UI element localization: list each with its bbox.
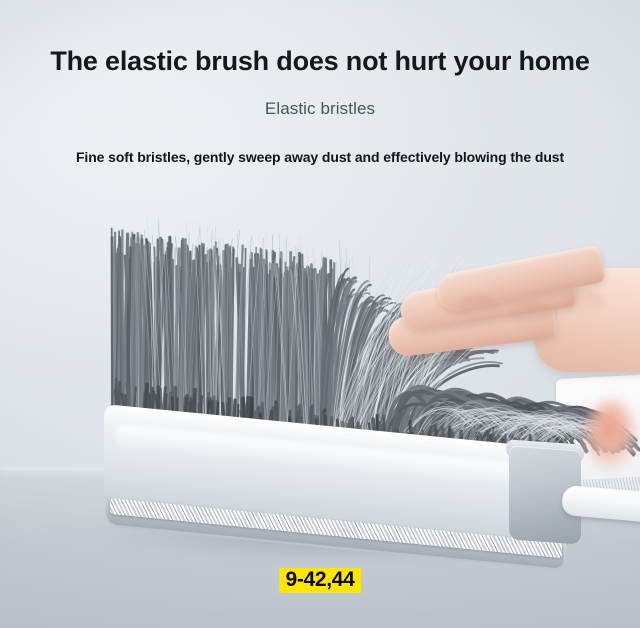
tagline-text: Fine soft bristles, gently sweep away du…: [0, 149, 640, 165]
subhead-text: Elastic bristles: [0, 99, 640, 119]
knuckle-shade-3: [562, 290, 606, 316]
product-scene: [0, 0, 640, 628]
timestamp-badge: 9-42,44: [279, 568, 360, 593]
blurred-thumb: [586, 400, 638, 474]
knuckle-shade-1: [458, 294, 498, 320]
brush-body: [96, 398, 576, 556]
pressing-hand: [384, 272, 640, 404]
badge-container: 9-42,44: [0, 568, 640, 593]
headline-text: The elastic brush does not hurt your hom…: [0, 46, 640, 77]
product-image-canvas: The elastic brush does not hurt your hom…: [0, 0, 640, 628]
knuckle-shade-2: [510, 302, 556, 330]
